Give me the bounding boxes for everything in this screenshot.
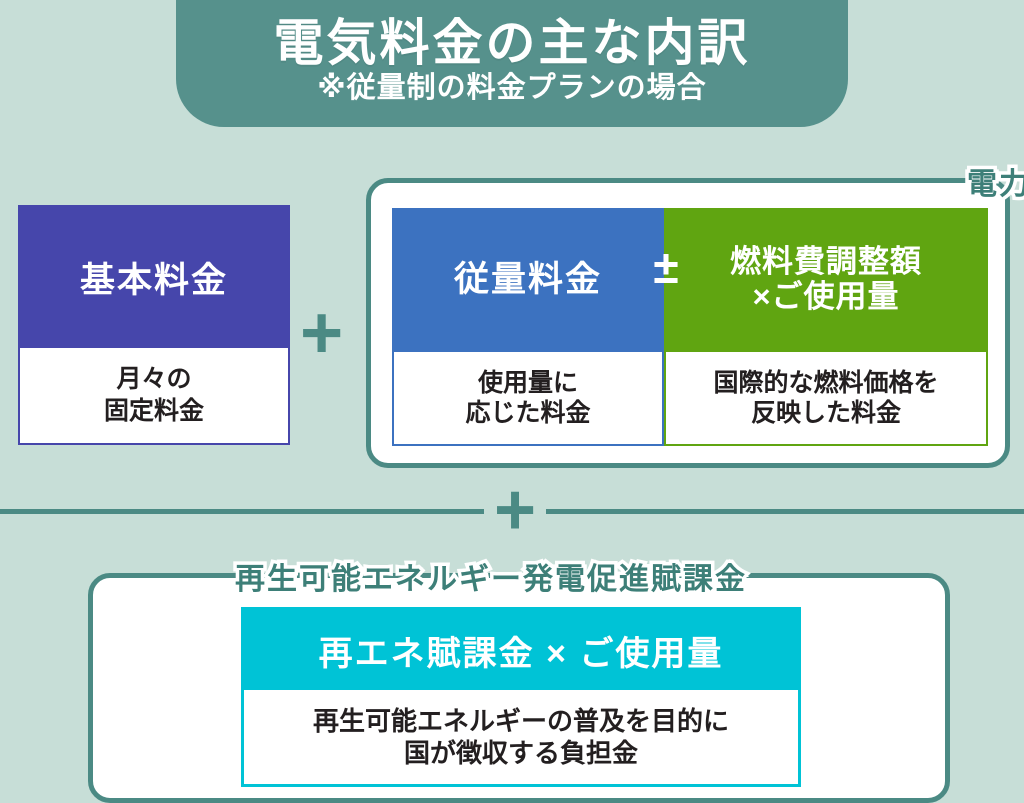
energy-charge-columns: 従量料金 使用量に 応じた料金 燃料費調整額 ×ご使用量 国際的な燃料価格を 反…	[392, 208, 988, 446]
metered-fee-description-line2: 応じた料金	[465, 399, 590, 427]
plus-operator-row2: +	[484, 474, 546, 546]
fuel-adjustment-heading-line1: 燃料費調整額	[730, 245, 922, 280]
page-title-banner: 電気料金の主な内訳 ※従量制の料金プランの場合	[176, 0, 848, 127]
fuel-adjustment-heading-line2: ×ご使用量	[752, 280, 899, 315]
fuel-adjustment-column: 燃料費調整額 ×ご使用量 国際的な燃料価格を 反映した料金	[664, 208, 988, 446]
metered-fee-column: 従量料金 使用量に 応じた料金	[392, 208, 664, 446]
renewable-levy-group-label: 再生可能エネルギー発電促進賦課金	[235, 554, 747, 598]
plus-operator-row1: +	[300, 296, 343, 370]
renewable-levy-description-line1: 再生可能エネルギーの普及を目的に	[313, 706, 729, 736]
energy-charge-group-label: 電力量料金	[967, 159, 1024, 203]
fuel-adjustment-heading: 燃料費調整額 ×ご使用量	[664, 208, 988, 352]
basic-fee-description-line2: 固定料金	[104, 397, 204, 425]
energy-charge-card: 電力量料金 従量料金 使用量に 応じた料金 燃料費調整額 ×ご使用量 国際的な燃…	[366, 178, 1010, 468]
fuel-adjustment-description-line1: 国際的な燃料価格を	[713, 369, 938, 397]
basic-fee-description: 月々の 固定料金	[20, 348, 288, 443]
renewable-levy-description-line2: 国が徴収する負担金	[404, 738, 638, 768]
page-subtitle: ※従量制の料金プランの場合	[317, 73, 706, 105]
metered-fee-description-line1: 使用量に	[478, 369, 578, 397]
renewable-levy-description: 再生可能エネルギーの普及を目的に 国が徴収する負担金	[244, 690, 798, 784]
fuel-adjustment-description-line2: 反映した料金	[751, 399, 901, 427]
page-title: 電気料金の主な内訳	[274, 17, 751, 69]
basic-fee-description-line1: 月々の	[116, 365, 191, 393]
plus-minus-operator: ±	[642, 244, 690, 290]
basic-fee-heading: 基本料金	[20, 207, 288, 348]
renewable-levy-heading: 再エネ賦課金 × ご使用量	[244, 610, 798, 690]
renewable-levy-inner: 再エネ賦課金 × ご使用量 再生可能エネルギーの普及を目的に 国が徴収する負担金	[241, 607, 801, 787]
metered-fee-description: 使用量に 応じた料金	[392, 352, 664, 446]
fuel-adjustment-description: 国際的な燃料価格を 反映した料金	[664, 352, 988, 446]
metered-fee-heading: 従量料金	[392, 208, 664, 352]
renewable-levy-card: 再生可能エネルギー発電促進賦課金 再エネ賦課金 × ご使用量 再生可能エネルギー…	[88, 573, 950, 803]
basic-fee-card: 基本料金 月々の 固定料金	[18, 205, 290, 445]
